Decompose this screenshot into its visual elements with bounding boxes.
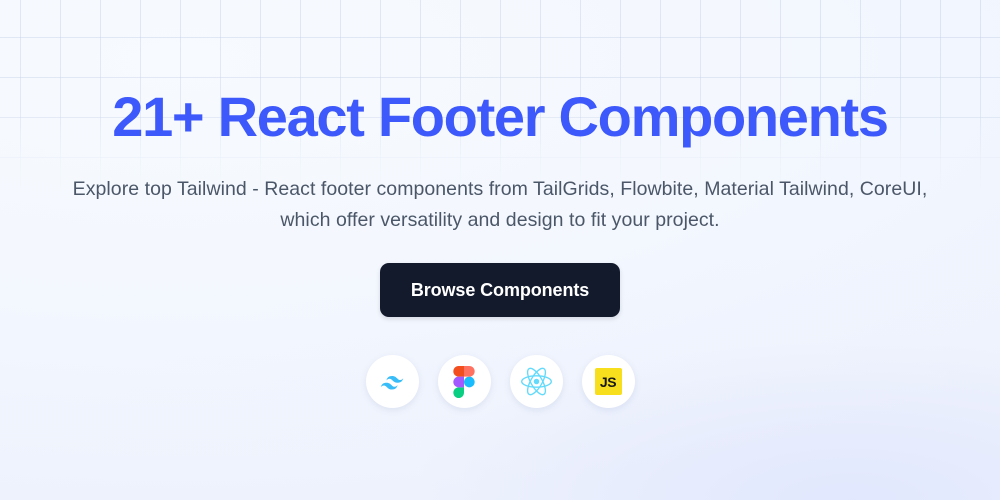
badge-tailwind[interactable] <box>366 355 419 408</box>
hero-subtitle: Explore top Tailwind - React footer comp… <box>32 174 968 236</box>
badge-javascript[interactable]: JS <box>582 355 635 408</box>
figma-icon <box>453 366 475 398</box>
tech-badge-row: JS <box>366 355 635 408</box>
browse-components-button[interactable]: Browse Components <box>380 263 620 317</box>
badge-react[interactable] <box>510 355 563 408</box>
javascript-icon: JS <box>595 368 622 395</box>
hero-section: 21+ React Footer Components Explore top … <box>0 0 1000 500</box>
tailwind-icon <box>377 367 407 397</box>
cta-row: Browse Components <box>380 263 620 317</box>
react-icon <box>521 366 552 397</box>
badge-figma[interactable] <box>438 355 491 408</box>
page-title: 21+ React Footer Components <box>0 88 1000 145</box>
hero-content: 21+ React Footer Components Explore top … <box>0 0 1000 500</box>
